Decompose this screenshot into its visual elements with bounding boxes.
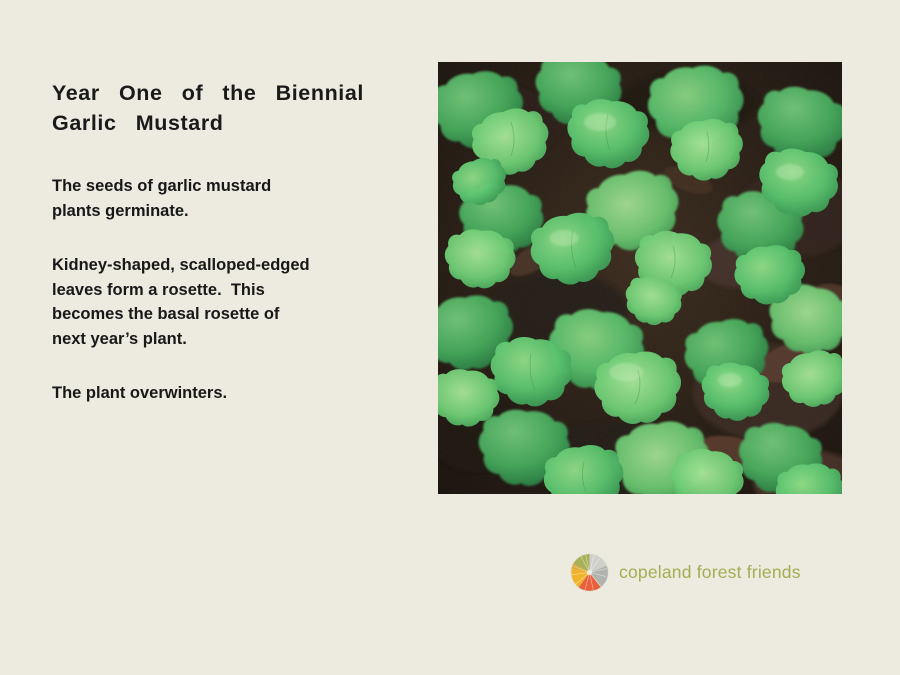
paragraph-line: Kidney-shaped, scalloped-edged bbox=[52, 253, 382, 278]
page-title: Year One of the Biennial Garlic Mustard bbox=[52, 78, 382, 138]
text-column: Year One of the Biennial Garlic Mustard … bbox=[52, 78, 382, 138]
body-paragraph-germination: The seeds of garlic mustard plants germi… bbox=[52, 174, 382, 223]
slide-canvas: Year One of the Biennial Garlic Mustard … bbox=[0, 0, 900, 675]
paragraph-line: next year’s plant. bbox=[52, 327, 382, 352]
paragraph-line: The plant overwinters. bbox=[52, 381, 382, 406]
logo-wordmark: copeland forest friends bbox=[619, 562, 801, 583]
paragraph-line: becomes the basal rosette of bbox=[52, 302, 382, 327]
paragraph-line: leaves form a rosette. This bbox=[52, 278, 382, 303]
garlic-mustard-rosette-photo bbox=[438, 62, 842, 494]
copeland-forest-friends-mark-icon bbox=[570, 553, 609, 592]
paragraph-line: plants germinate. bbox=[52, 199, 382, 224]
body-paragraph-overwinter: The plant overwinters. bbox=[52, 381, 382, 406]
page-title-line-2: Garlic Mustard bbox=[52, 108, 382, 138]
paragraph-line: The seeds of garlic mustard bbox=[52, 174, 382, 199]
page-title-line-1: Year One of the Biennial bbox=[52, 78, 382, 108]
body-paragraph-rosette: Kidney-shaped, scalloped-edged leaves fo… bbox=[52, 253, 382, 351]
copeland-forest-friends-logo: copeland forest friends bbox=[570, 552, 801, 592]
